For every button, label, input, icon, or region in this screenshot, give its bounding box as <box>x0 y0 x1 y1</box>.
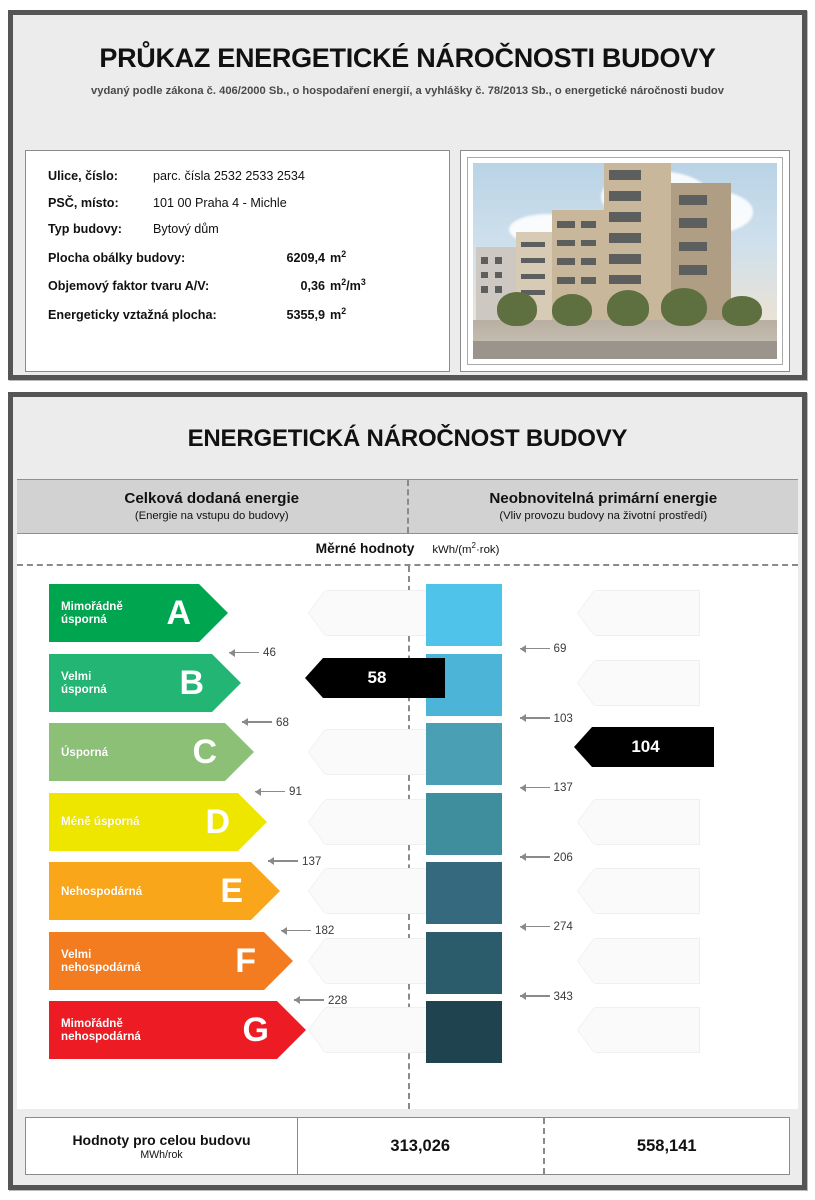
boundary-tick-343: 343 <box>520 990 573 1003</box>
info-value: Bytový dům <box>153 222 219 236</box>
class-letter: B <box>179 666 212 700</box>
info-value: parc. čísla 2532 2533 2534 <box>153 169 305 183</box>
info-line-street: Ulice, číslo: parc. čísla 2532 2533 2534 <box>48 169 449 183</box>
totals-primary-value: 558,141 <box>545 1118 790 1174</box>
class-letter: D <box>205 805 238 839</box>
info-line-zip: PSČ, místo: 101 00 Praha 4 - Michle <box>48 196 449 210</box>
penb-page: PRŮKAZ ENERGETICKÉ NÁROČNOSTI BUDOVY vyd… <box>0 0 815 1200</box>
boundary-tick-206: 206 <box>520 851 573 864</box>
boundary-tick-137-primary: 137 <box>520 781 573 794</box>
class-arrow-f: Velminehospodárná F <box>49 932 293 990</box>
section-title: ENERGETICKÁ NÁROČNOST BUDOVY <box>13 397 802 479</box>
class-name: Úsporná <box>61 746 108 759</box>
info-value: 101 00 Praha 4 - Michle <box>153 196 287 210</box>
ghost-arrow-primary-a <box>578 590 700 636</box>
boundary-value: 206 <box>554 851 573 864</box>
class-name: Mimořádněúsporná <box>61 600 123 626</box>
info-label: Ulice, číslo: <box>48 169 153 183</box>
specific-values-unit: kWh/(m2·rok) <box>432 544 499 556</box>
result-value: 104 <box>631 737 659 757</box>
column-header-primary-energy: Neobnovitelná primární energie (Vliv pro… <box>409 480 799 533</box>
specific-values-label: Měrné hodnoty <box>316 541 415 556</box>
info-line-type: Typ budovy: Bytový dům <box>48 222 449 236</box>
class-row-c: Úsporná C 91 C <box>17 723 408 793</box>
info-line-shape-factor: Objemový faktor tvaru A/V: 0,36 m2/m3 <box>48 277 449 293</box>
info-label: Energeticky vztažná plocha: <box>48 308 226 322</box>
info-unit: m2 <box>330 306 346 322</box>
class-row-a: Mimořádněúsporná A 46 A <box>17 584 408 654</box>
class-row-f: Velminehospodárná F 228 F <box>17 932 408 1002</box>
result-arrow-primary: 104 <box>574 727 714 767</box>
building-photo-icon <box>473 163 777 359</box>
specific-values-band: Měrné hodnoty kWh/(m2·rok) <box>17 534 798 566</box>
class-name: Velmiúsporná <box>61 670 107 696</box>
left-scale-panel: Mimořádněúsporná A 46 A <box>17 566 408 1109</box>
column-header-delivered-energy: Celková dodaná energie (Energie na vstup… <box>17 480 409 533</box>
info-unit: m2/m3 <box>330 277 366 293</box>
class-name: Méně úsporná <box>61 815 140 828</box>
energy-scale-area: Mimořádněúsporná A 46 A <box>17 566 798 1109</box>
energy-performance-panel: ENERGETICKÁ NÁROČNOST BUDOVY Celková dod… <box>8 392 807 1190</box>
ghost-arrow-primary-e <box>578 868 700 914</box>
class-name: Nehospodárná <box>61 885 142 898</box>
info-row: Ulice, číslo: parc. čísla 2532 2533 2534… <box>25 150 790 372</box>
boundary-value: 274 <box>554 920 573 933</box>
class-rows: Mimořádněúsporná A 46 A <box>17 584 408 1071</box>
column-title: Neobnovitelná primární energie <box>413 490 795 507</box>
class-row-d: Méně úsporná D 137 D <box>17 793 408 863</box>
boundary-tick-69: 69 <box>520 642 567 655</box>
boundary-tick-103: 103 <box>520 712 573 725</box>
class-letter: C <box>192 735 225 769</box>
column-title: Celková dodaná energie <box>21 490 403 507</box>
class-row-g: Mimořádněnehospodárná G G <box>17 1001 408 1071</box>
class-name: Mimořádněnehospodárná <box>61 1017 141 1043</box>
page-title: PRŮKAZ ENERGETICKÉ NÁROČNOSTI BUDOVY <box>23 43 792 74</box>
info-line-envelope-area: Plocha obálky budovy: 6209,4 m2 <box>48 249 449 265</box>
right-scale-panel: 69 103 <box>408 566 799 1109</box>
info-label: PSČ, místo: <box>48 196 153 210</box>
ghost-arrow-primary-f <box>578 938 700 984</box>
totals-label: Hodnoty pro celou budovu <box>72 1132 250 1148</box>
primary-block-e <box>426 862 502 924</box>
ghost-arrow-primary-g <box>578 1007 700 1053</box>
info-line-reference-area: Energeticky vztažná plocha: 5355,9 m2 <box>48 306 449 322</box>
column-subtitle: (Vliv provozu budovy na životní prostřed… <box>413 510 795 522</box>
result-value: 58 <box>368 668 387 688</box>
boundary-value: 69 <box>554 642 567 655</box>
building-info-box: Ulice, číslo: parc. čísla 2532 2533 2534… <box>25 150 450 372</box>
primary-block-g <box>426 1001 502 1063</box>
ghost-arrow-primary-b <box>578 660 700 706</box>
building-photo-box <box>460 150 790 372</box>
boundary-tick-274: 274 <box>520 920 573 933</box>
column-headers: Celková dodaná energie (Energie na vstup… <box>17 479 798 534</box>
class-letter: E <box>220 874 251 908</box>
class-arrow-d: Méně úsporná D <box>49 793 267 851</box>
info-value: 5355,9 <box>226 308 330 322</box>
class-arrow-e: Nehospodárná E <box>49 862 280 920</box>
page-subtitle: vydaný podle zákona č. 406/2000 Sb., o h… <box>23 85 792 97</box>
class-row-b: Velmiúsporná B 68 58 <box>17 654 408 724</box>
info-label: Typ budovy: <box>48 222 153 236</box>
class-row-e: Nehospodárná E 182 E <box>17 862 408 932</box>
header-panel: PRŮKAZ ENERGETICKÉ NÁROČNOSTI BUDOVY vyd… <box>8 10 807 380</box>
totals-row: Hodnoty pro celou budovu MWh/rok 313,026… <box>25 1117 790 1175</box>
class-arrow-g: Mimořádněnehospodárná G <box>49 1001 306 1059</box>
class-letter: A <box>166 596 199 630</box>
title-area: PRŮKAZ ENERGETICKÉ NÁROČNOSTI BUDOVY vyd… <box>13 15 802 103</box>
info-value: 6209,4 <box>226 251 330 265</box>
totals-label-cell: Hodnoty pro celou budovu MWh/rok <box>26 1118 298 1174</box>
result-arrow-delivered: 58 <box>305 658 445 698</box>
info-value: 0,36 <box>226 279 330 293</box>
totals-unit: MWh/rok <box>140 1149 182 1161</box>
boundary-value: 343 <box>554 990 573 1003</box>
class-letter: G <box>243 1013 277 1047</box>
info-unit: m2 <box>330 249 346 265</box>
column-subtitle: (Energie na vstupu do budovy) <box>21 510 403 522</box>
primary-block-a <box>426 584 502 646</box>
boundary-value: 103 <box>554 712 573 725</box>
boundary-value: 137 <box>554 781 573 794</box>
class-arrow-b: Velmiúsporná B <box>49 654 241 712</box>
primary-block-d <box>426 793 502 855</box>
class-arrow-a: Mimořádněúsporná A <box>49 584 228 642</box>
ghost-arrow-primary-d <box>578 799 700 845</box>
class-letter: F <box>235 944 264 978</box>
class-name: Velminehospodárná <box>61 948 141 974</box>
primary-block-f <box>426 932 502 994</box>
totals-delivered-value: 313,026 <box>298 1118 545 1174</box>
info-label: Plocha obálky budovy: <box>48 251 226 265</box>
photo-frame <box>467 157 783 365</box>
info-label: Objemový faktor tvaru A/V: <box>48 279 226 293</box>
class-arrow-c: Úsporná C <box>49 723 254 781</box>
primary-block-c <box>426 723 502 785</box>
